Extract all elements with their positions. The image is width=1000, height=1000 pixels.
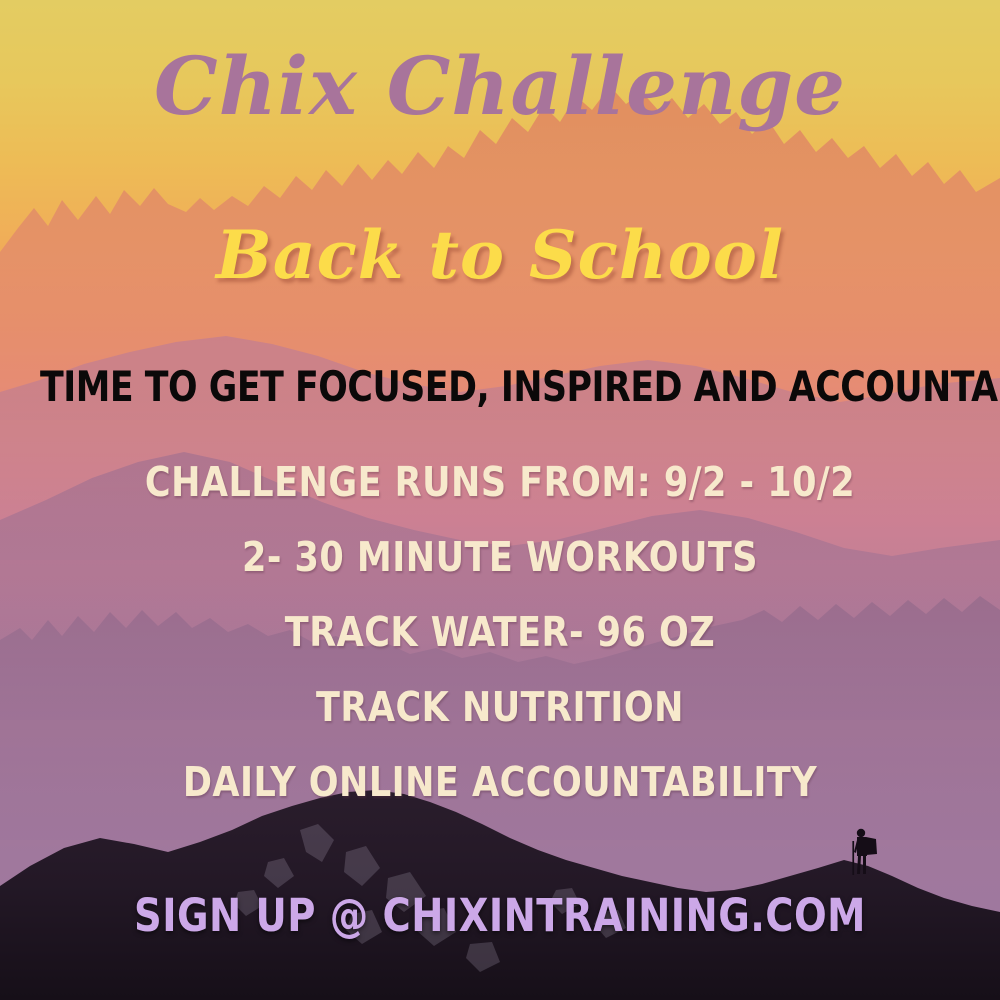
list-item: CHALLENGE RUNS FROM: 9/2 - 10/2: [25, 462, 975, 503]
list-item: DAILY ONLINE ACCOUNTABILITY: [25, 762, 975, 803]
page-title: Chix Challenge: [0, 46, 1000, 126]
poster-text-content: Chix Challenge Back to School TIME TO GE…: [0, 0, 1000, 1000]
list-item: TRACK NUTRITION: [25, 687, 975, 728]
challenge-details-list: CHALLENGE RUNS FROM: 9/2 - 10/2 2- 30 MI…: [0, 462, 1000, 837]
poster-tagline: TIME TO GET FOCUSED, INSPIRED AND ACCOUN…: [40, 366, 960, 408]
poster-canvas: Chix Challenge Back to School TIME TO GE…: [0, 0, 1000, 1000]
list-item: 2- 30 MINUTE WORKOUTS: [25, 537, 975, 578]
signup-call-to-action[interactable]: SIGN UP @ CHIXINTRAINING.COM: [25, 893, 975, 938]
list-item: TRACK WATER- 96 OZ: [25, 612, 975, 653]
poster-subtitle: Back to School: [0, 222, 1000, 288]
